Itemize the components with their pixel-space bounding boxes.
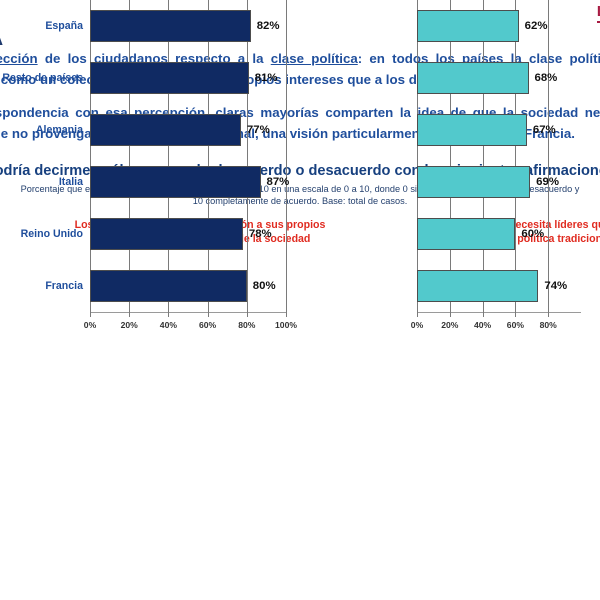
tickmark-60 — [515, 312, 516, 317]
category-label-resto-de-países: Resto de países — [2, 72, 83, 84]
gridline-40 — [483, 0, 484, 312]
bar-alemania[interactable] — [90, 114, 241, 146]
tickmark-60 — [208, 312, 209, 317]
tickmark-0 — [90, 312, 91, 317]
tickmark-0 — [417, 312, 418, 317]
gridline-40 — [168, 0, 169, 312]
value-label-francia: 80% — [253, 280, 276, 292]
tickmark-40 — [483, 312, 484, 317]
gridline-100 — [286, 0, 287, 312]
bar-row: 74% — [417, 270, 581, 302]
bar-row: 69% — [417, 166, 581, 198]
x-tick-label-40: 40% — [474, 320, 491, 330]
bar-row: España82% — [90, 10, 286, 42]
paragraph-1-underline-1: fección — [0, 51, 38, 66]
y-axis-line — [417, 0, 418, 312]
bar-row: 68% — [417, 62, 581, 94]
tickmark-40 — [168, 312, 169, 317]
tickmark-20 — [450, 312, 451, 317]
value-label-reino-unido: 60% — [521, 228, 544, 240]
x-tick-label-40: 40% — [160, 320, 177, 330]
value-label-resto-de-países: 81% — [255, 72, 278, 84]
bar-reino-unido[interactable] — [90, 218, 243, 250]
x-tick-label-0: 0% — [84, 320, 96, 330]
x-tick-label-80: 80% — [540, 320, 557, 330]
bar-row: 60% — [417, 218, 581, 250]
bar-alemania[interactable] — [417, 114, 527, 146]
value-label-italia: 69% — [536, 176, 559, 188]
slide-page: LA CL A La desafección de los ciudadanos… — [0, 0, 600, 600]
bar-españa[interactable] — [417, 10, 519, 42]
value-label-resto-de-países: 68% — [535, 72, 558, 84]
section-corner-glyph: A — [0, 28, 3, 49]
value-label-reino-unido: 78% — [249, 228, 272, 240]
category-label-italia: Italia — [59, 176, 83, 188]
x-tick-label-0: 0% — [411, 320, 423, 330]
value-label-alemania: 67% — [533, 124, 556, 136]
bar-row: Alemania77% — [90, 114, 286, 146]
tickmark-100 — [286, 312, 287, 317]
value-label-españa: 62% — [525, 20, 548, 32]
tickmark-20 — [129, 312, 130, 317]
bar-row: Resto de países81% — [90, 62, 286, 94]
x-tick-label-60: 60% — [199, 320, 216, 330]
category-label-reino-unido: Reino Unido — [21, 228, 83, 240]
bar-row: Italia87% — [90, 166, 286, 198]
category-label-francia: Francia — [45, 280, 83, 292]
bar-row: 62% — [417, 10, 581, 42]
bar-italia[interactable] — [90, 166, 261, 198]
tickmark-80 — [548, 312, 549, 317]
bar-resto-de-países[interactable] — [417, 62, 529, 94]
bar-italia[interactable] — [417, 166, 530, 198]
bar-row: Francia80% — [90, 270, 286, 302]
x-axis-line — [90, 312, 286, 313]
x-tick-label-60: 60% — [507, 320, 524, 330]
gridline-60 — [208, 0, 209, 312]
gridline-20 — [129, 0, 130, 312]
bar-españa[interactable] — [90, 10, 251, 42]
bar-row: Reino Unido78% — [90, 218, 286, 250]
value-label-alemania: 77% — [247, 124, 270, 136]
x-axis-line — [417, 312, 581, 313]
value-label-francia: 74% — [544, 280, 567, 292]
gridline-20 — [450, 0, 451, 312]
y-axis-line — [90, 0, 91, 312]
tickmark-80 — [247, 312, 248, 317]
bar-reino-unido[interactable] — [417, 218, 515, 250]
category-label-alemania: Alemania — [36, 124, 83, 136]
x-tick-label-80: 80% — [238, 320, 255, 330]
bar-francia[interactable] — [417, 270, 538, 302]
chart-plot-left: España82%Resto de países81%Alemania77%It… — [90, 0, 286, 312]
gridline-60 — [515, 0, 516, 312]
gridline-80 — [247, 0, 248, 312]
category-label-españa: España — [45, 20, 83, 32]
bar-resto-de-países[interactable] — [90, 62, 249, 94]
gridline-80 — [548, 0, 549, 312]
bar-francia[interactable] — [90, 270, 247, 302]
value-label-italia: 87% — [267, 176, 290, 188]
x-tick-label-20: 20% — [121, 320, 138, 330]
value-label-españa: 82% — [257, 20, 280, 32]
chart-plot-right: 62%68%67%69%60%74%0%20%40%60%80% — [417, 0, 581, 312]
x-tick-label-20: 20% — [441, 320, 458, 330]
bar-row: 67% — [417, 114, 581, 146]
x-tick-label-100: 100% — [275, 320, 297, 330]
